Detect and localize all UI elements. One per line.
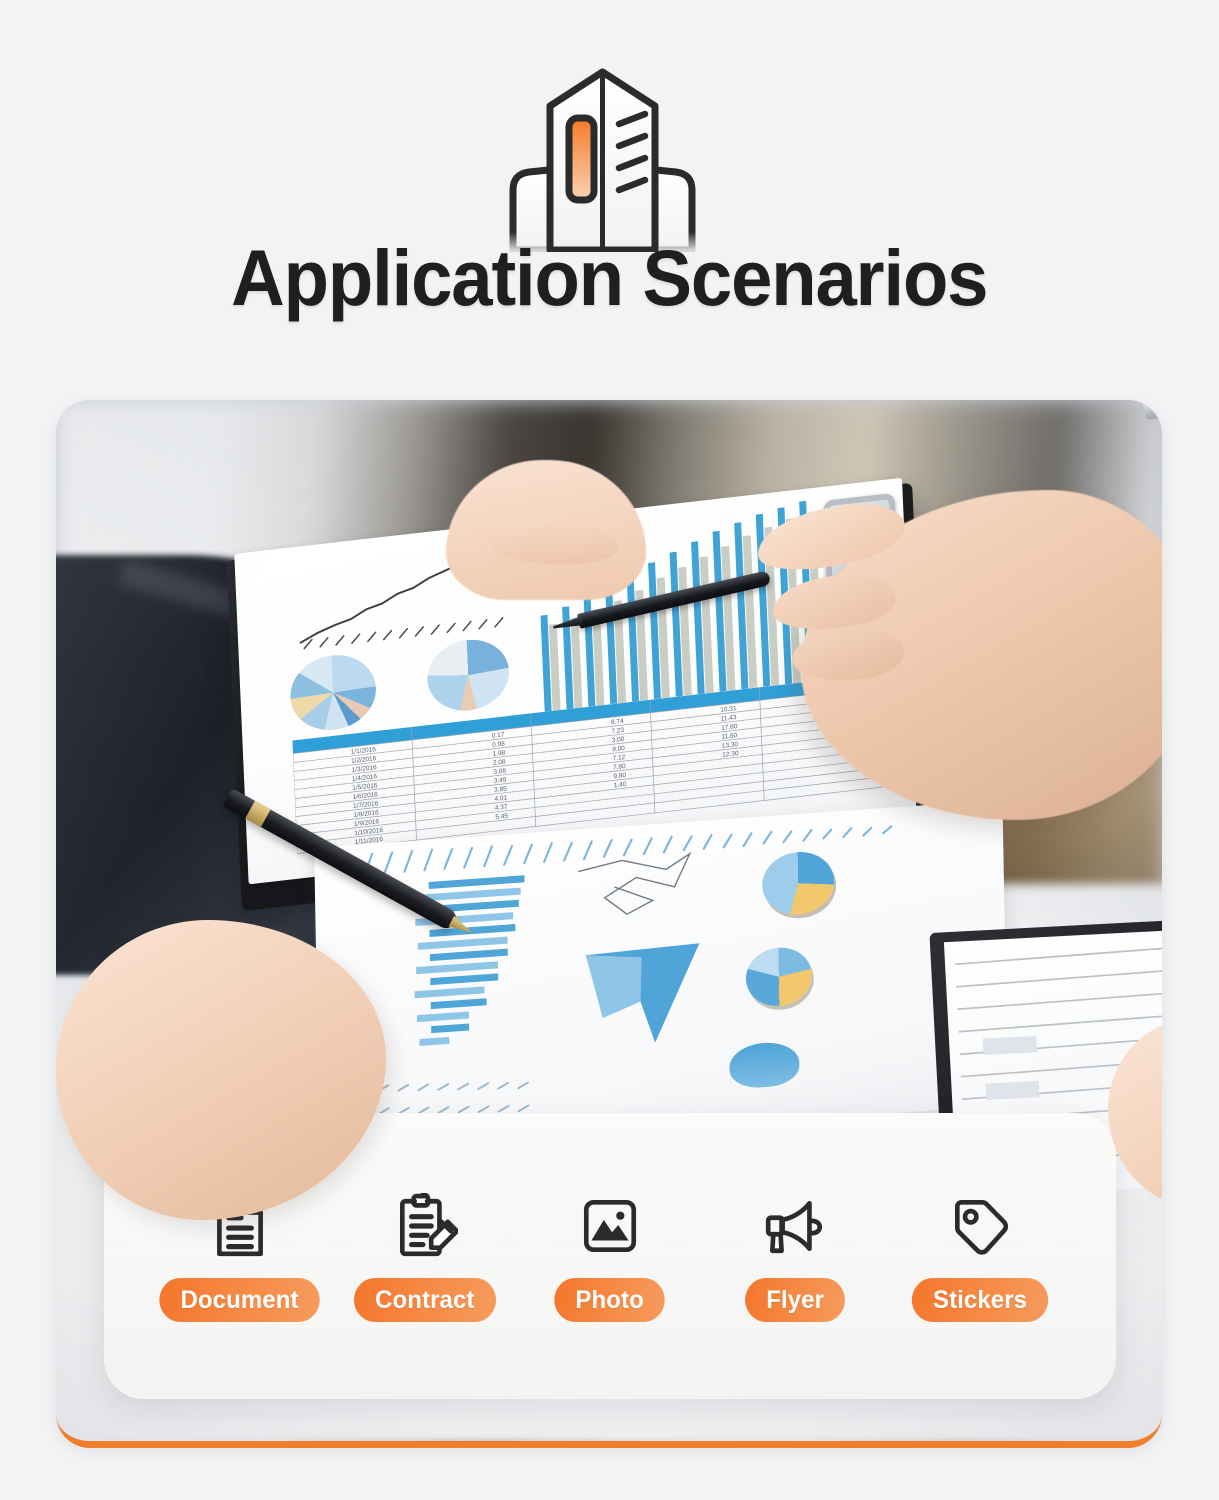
page-title: Application Scenarios xyxy=(231,238,987,317)
svg-text:3.00: 3.00 xyxy=(612,736,625,744)
feature-label-contract[interactable]: Contract xyxy=(354,1278,496,1322)
svg-text:9.80: 9.80 xyxy=(613,772,626,780)
svg-text:3.49: 3.49 xyxy=(494,776,507,784)
svg-text:4.37: 4.37 xyxy=(495,804,508,812)
report-lower-pie-1 xyxy=(762,850,835,917)
building-logo-icon xyxy=(495,62,710,252)
feature-label-photo[interactable]: Photo xyxy=(555,1278,666,1322)
feature-item-contract[interactable]: Contract xyxy=(345,1190,505,1322)
feature-item-photo[interactable]: Photo xyxy=(530,1190,690,1322)
contract-clipboard-pen-icon xyxy=(389,1190,461,1262)
report-lower-pie-2 xyxy=(745,945,812,1008)
svg-text:1.40: 1.40 xyxy=(614,781,627,789)
tag-icon xyxy=(944,1190,1016,1262)
megaphone-icon xyxy=(759,1190,831,1262)
pen-upper-clip xyxy=(1142,400,1162,421)
application-scenarios-page: Application Scenarios xyxy=(0,0,1219,1500)
svg-text:0.98: 0.98 xyxy=(492,740,505,748)
svg-text:3.08: 3.08 xyxy=(493,767,506,775)
feature-item-flyer[interactable]: Flyer xyxy=(715,1190,875,1322)
feature-item-stickers[interactable]: Stickers xyxy=(900,1190,1060,1322)
svg-text:8.74: 8.74 xyxy=(611,718,624,726)
svg-text:2.08: 2.08 xyxy=(493,758,506,766)
report-pie-chart-1 xyxy=(289,651,378,735)
svg-text:5.45: 5.45 xyxy=(495,813,508,821)
report-scatter-chart xyxy=(574,851,705,930)
report-lower-pie-3 xyxy=(729,1041,800,1090)
report-pie-chart-2 xyxy=(426,635,511,714)
feature-label-stickers[interactable]: Stickers xyxy=(912,1278,1048,1322)
svg-text:9.00: 9.00 xyxy=(612,745,625,753)
svg-text:7.80: 7.80 xyxy=(613,763,626,771)
report-sheet-lower xyxy=(314,800,1008,1154)
svg-text:4.01: 4.01 xyxy=(494,795,507,803)
photo-image-icon xyxy=(574,1190,646,1262)
svg-text:1.98: 1.98 xyxy=(492,749,505,757)
svg-text:7.12: 7.12 xyxy=(612,754,625,762)
feature-label-document[interactable]: Document xyxy=(160,1278,320,1322)
page-title-row: Application Scenarios xyxy=(0,238,1219,317)
report-funnel-chart xyxy=(584,941,703,1051)
svg-text:0.17: 0.17 xyxy=(492,731,505,739)
svg-text:7.23: 7.23 xyxy=(611,727,624,735)
feature-label-flyer[interactable]: Flyer xyxy=(745,1278,845,1322)
page-header: Application Scenarios xyxy=(0,0,1219,395)
svg-text:3.85: 3.85 xyxy=(494,785,507,793)
